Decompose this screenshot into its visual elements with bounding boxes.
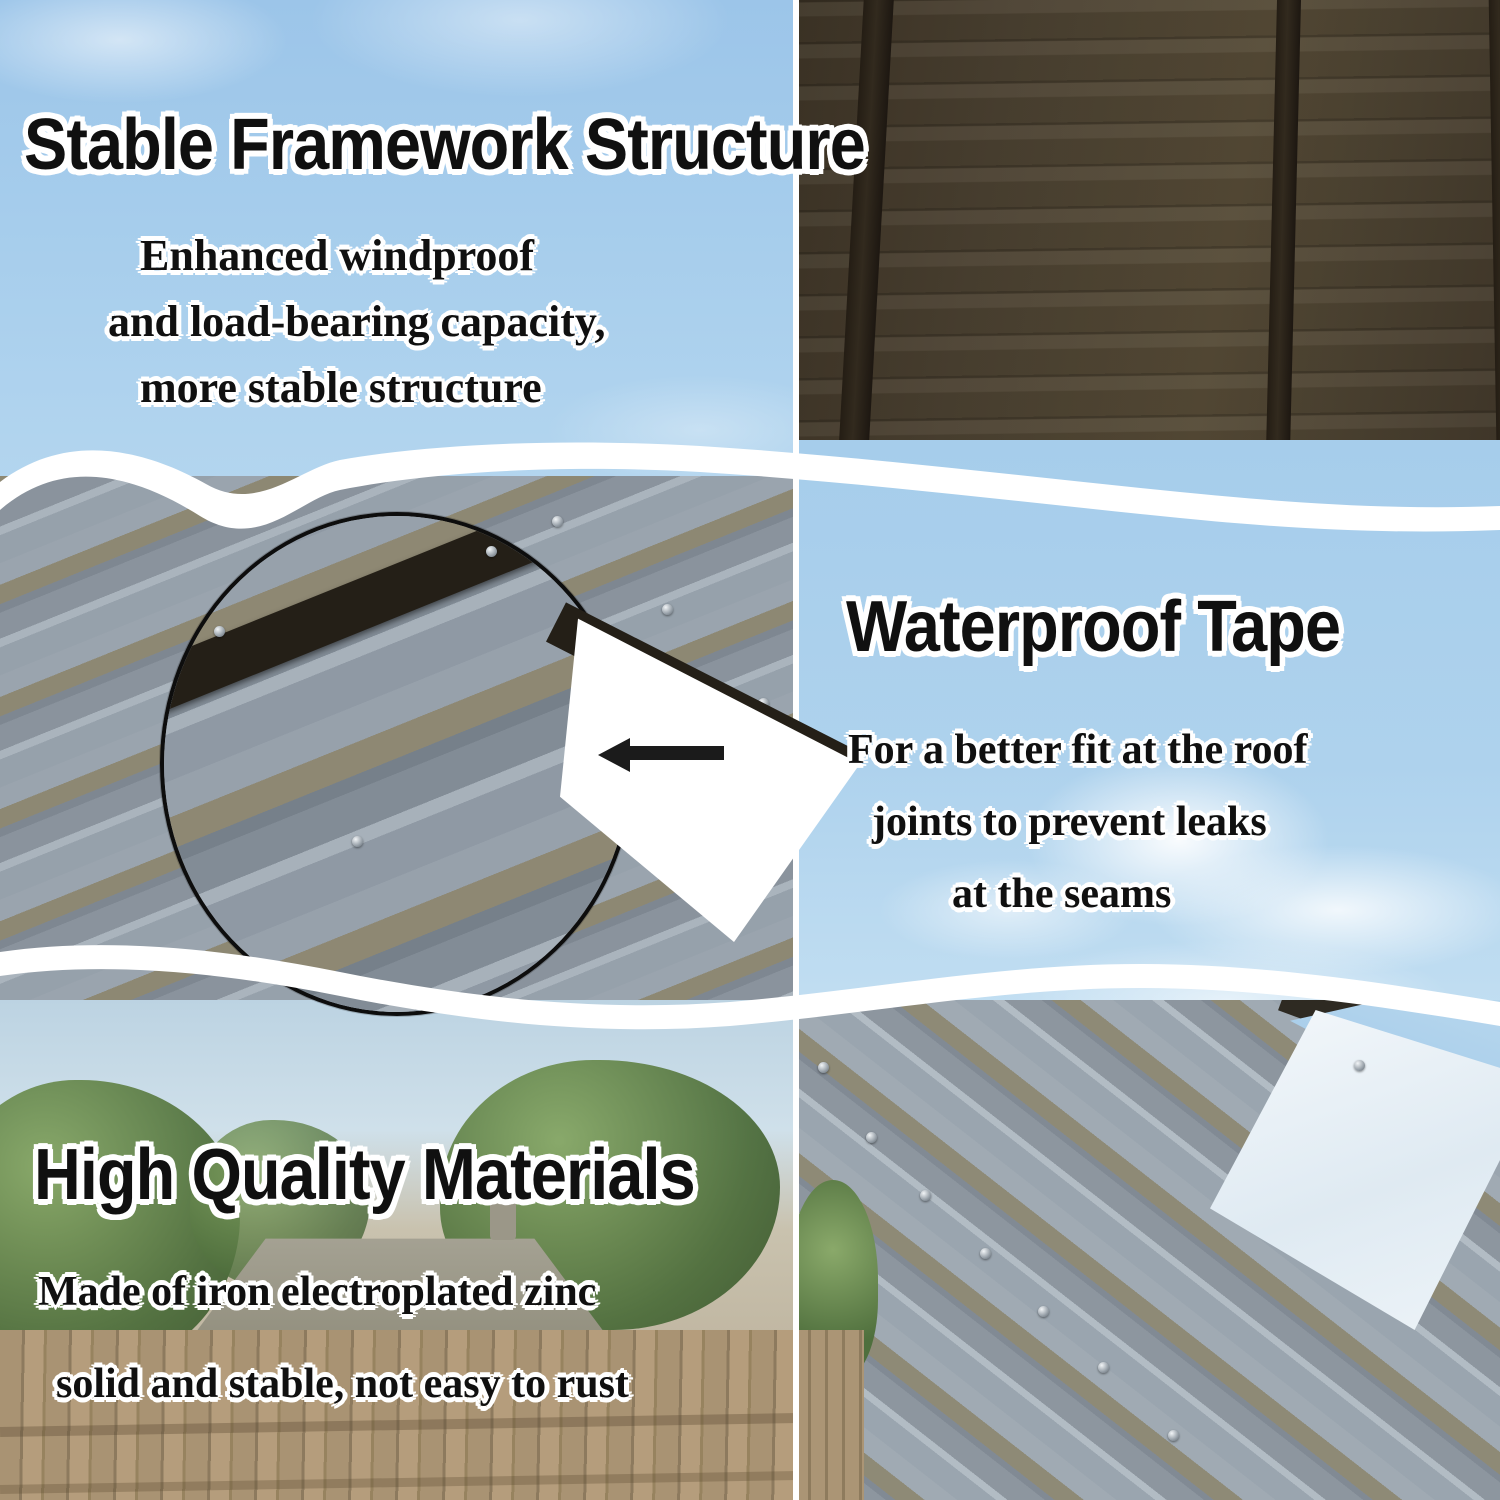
- screw-icon: [1098, 1362, 1109, 1373]
- block-body-line: and load-bearing capacity,: [108, 296, 606, 347]
- photo-brown-roof-underside: [798, 0, 1500, 500]
- arrow-left-icon: [596, 738, 726, 772]
- block-title-waterproof-tape: Waterproof Tape: [846, 586, 1340, 668]
- magnified-roof-surface: [160, 512, 634, 1016]
- block-body-line: Enhanced windproof: [140, 230, 534, 281]
- screw-icon: [662, 604, 673, 615]
- screw-icon: [1354, 1060, 1365, 1071]
- block-body-line: at the seams: [952, 870, 1171, 918]
- screw-icon: [866, 1132, 877, 1143]
- block-body-line: solid and stable, not easy to rust: [56, 1360, 629, 1408]
- photo-metal-roof-panels: [798, 1000, 1500, 1500]
- block-body-line: For a better fit at the roof: [848, 726, 1308, 774]
- roof-beam-icon: [833, 0, 896, 500]
- block-body-line: Made of iron electroplated zinc: [38, 1268, 596, 1316]
- panel-divider-vertical: [793, 0, 799, 470]
- roof-panel-highlight-wedge: [1210, 1010, 1500, 1330]
- screw-icon: [486, 546, 497, 557]
- panel-divider-vertical: [793, 1010, 799, 1500]
- roof-beam-icon: [1488, 0, 1500, 500]
- wooden-fence: [798, 1330, 864, 1500]
- product-feature-infographic: Stable Framework Structure Enhanced wind…: [0, 0, 1500, 1500]
- screw-icon: [1038, 1306, 1049, 1317]
- block-title-stable-framework-structure: Stable Framework Structure: [24, 104, 865, 186]
- screw-icon: [920, 1190, 931, 1201]
- photo-backyard-fence: [0, 1000, 798, 1500]
- screw-icon: [214, 626, 225, 637]
- roof-beam-icon: [1263, 0, 1302, 500]
- screw-icon: [818, 1062, 829, 1073]
- screw-icon: [1168, 1430, 1179, 1441]
- magnifier-circle-callout: [160, 512, 634, 1016]
- screw-icon: [980, 1248, 991, 1259]
- block-body-line: joints to prevent leaks: [872, 798, 1267, 846]
- block-title-high-quality-materials: High Quality Materials: [34, 1134, 695, 1216]
- screw-icon: [352, 836, 363, 847]
- block-body-line: more stable structure: [140, 362, 542, 413]
